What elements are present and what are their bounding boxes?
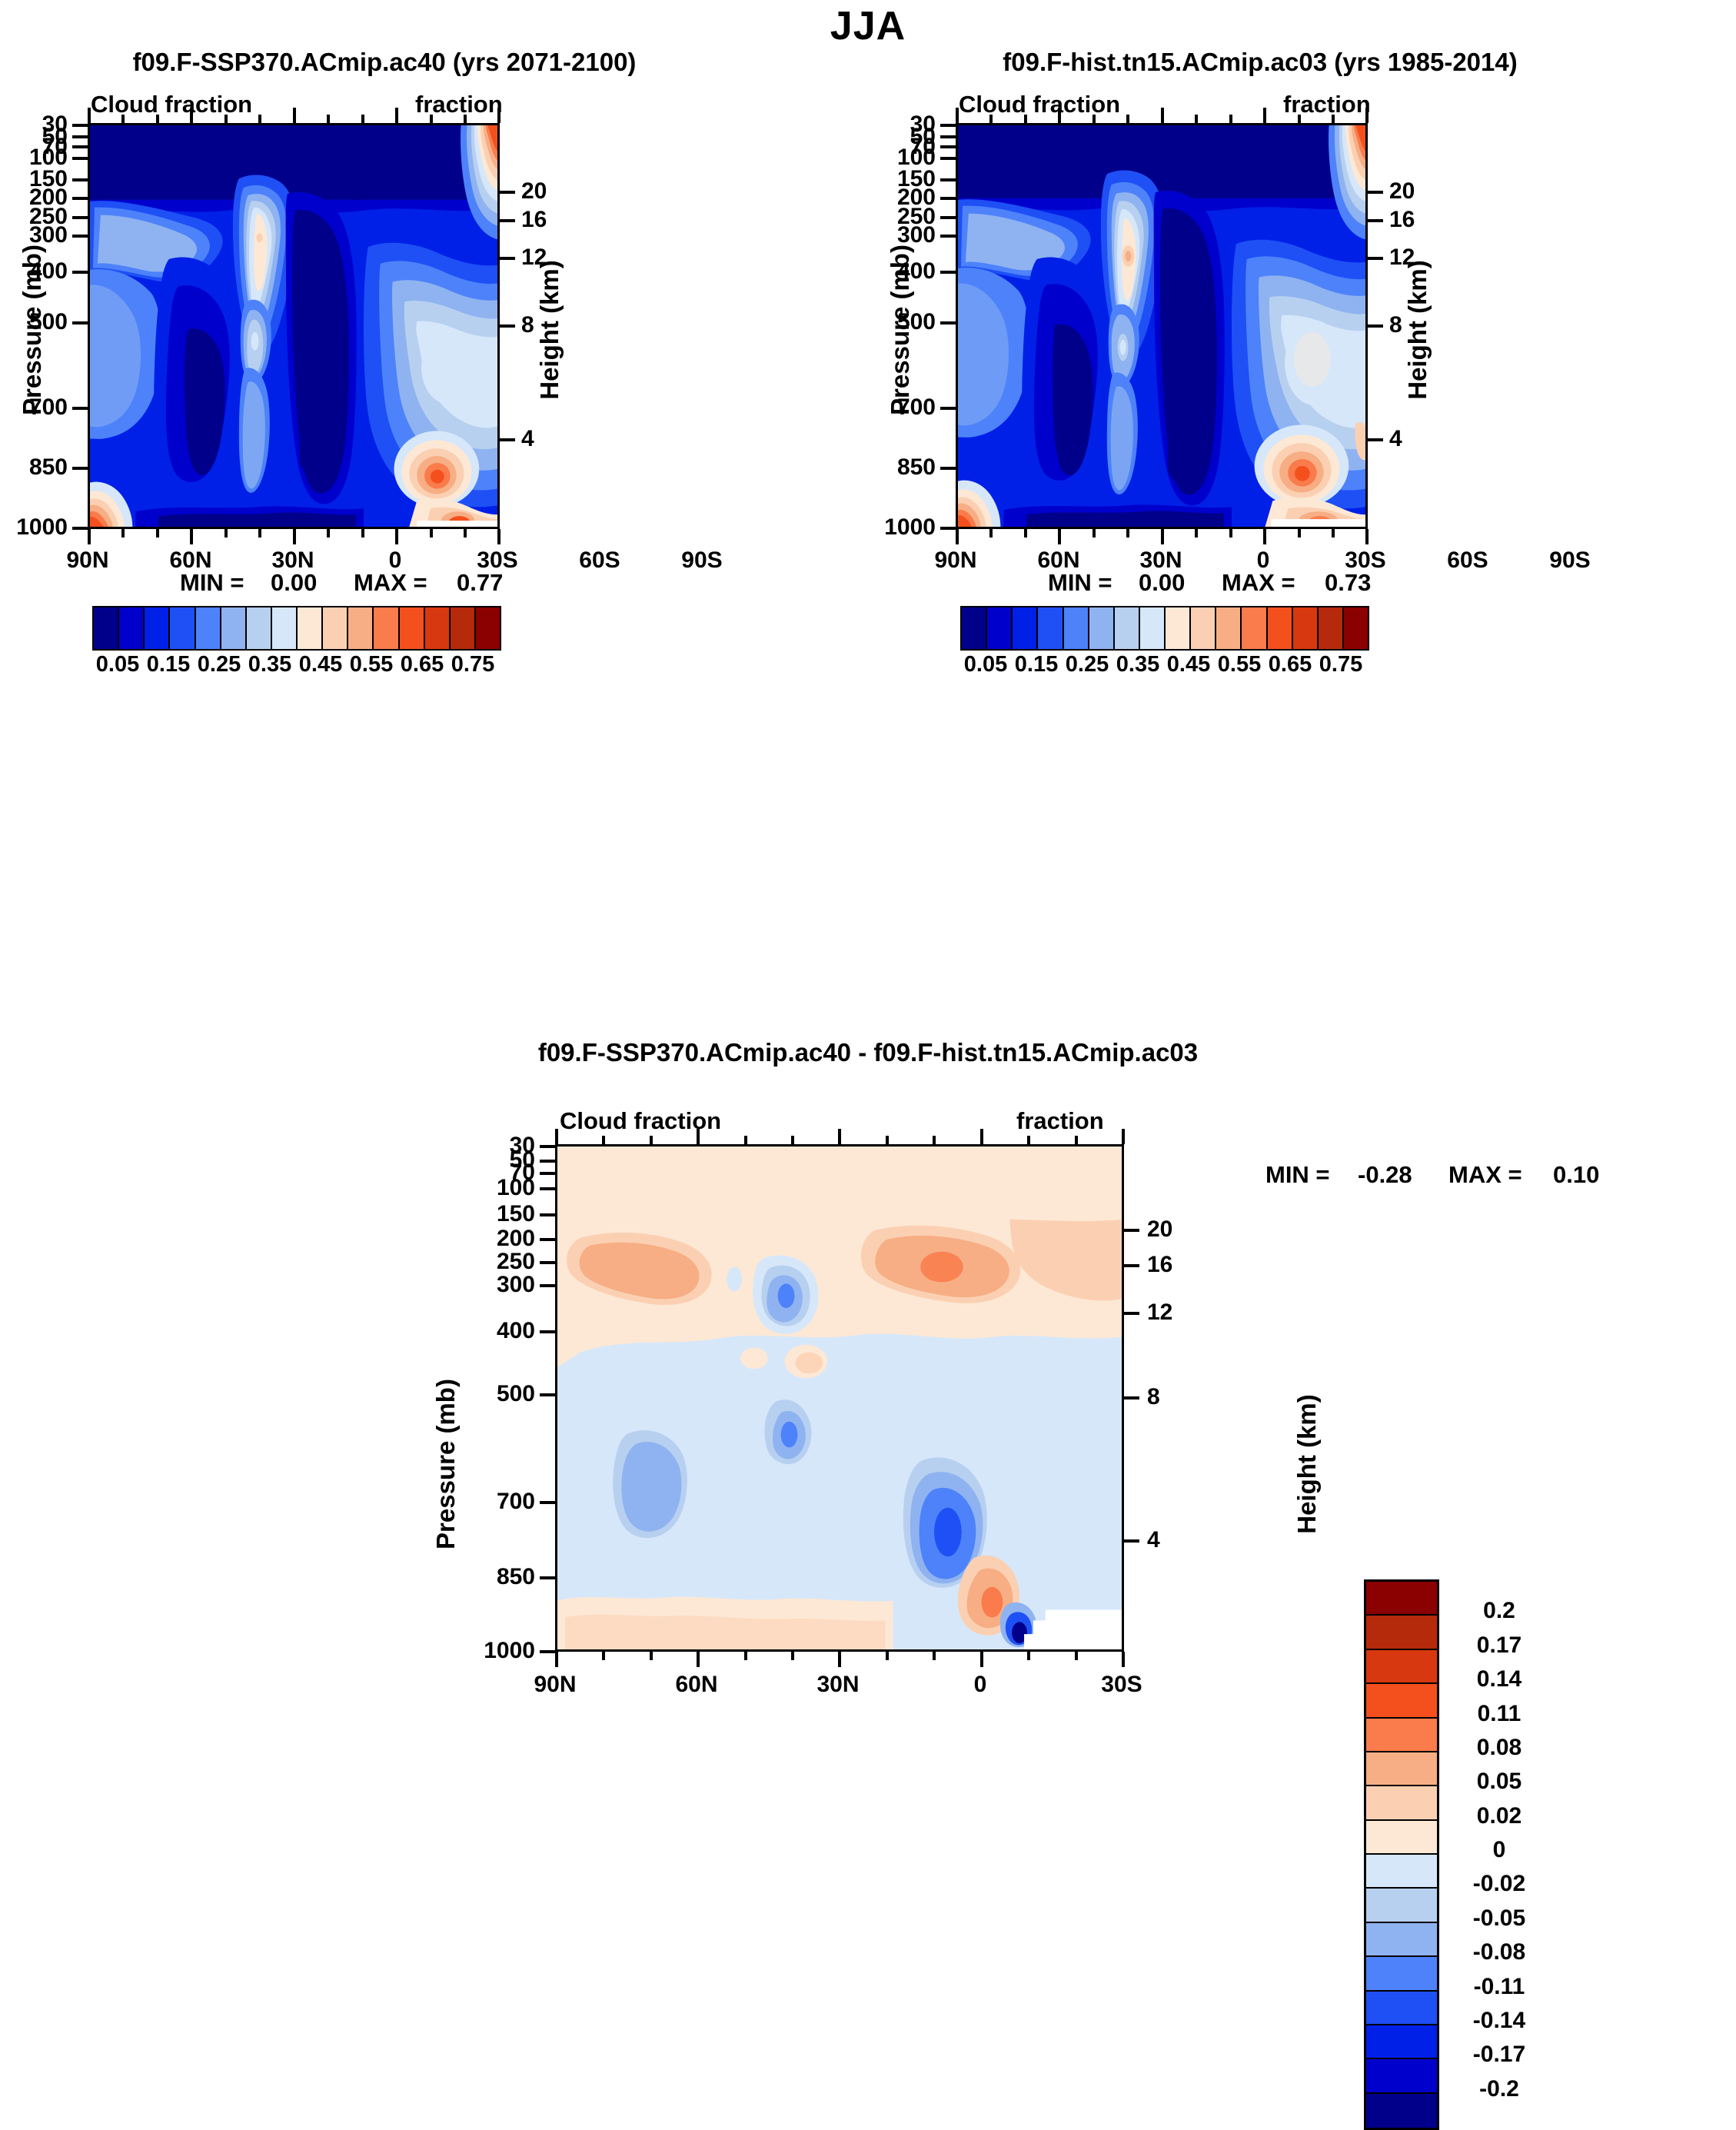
colorbar-tick-label: 0.05 xyxy=(1445,1769,1553,1795)
colorbar-cell xyxy=(1366,1786,1437,1820)
colorbar-tick-label: 0.17 xyxy=(1445,1632,1553,1659)
xtick-90S-left: 90S xyxy=(663,547,740,574)
colorbar-cell xyxy=(272,607,298,649)
ytick-700: 700 xyxy=(466,1489,535,1515)
panel-difference-colorbar-labels: 0.20.170.140.110.080.050.020-0.02-0.05-0… xyxy=(1445,1579,1568,2125)
colorbar-cell xyxy=(1268,607,1293,649)
panel-difference-units-label: fraction xyxy=(1016,1107,1104,1135)
panel-top-right-min-label: MIN = xyxy=(1048,569,1112,597)
panel-difference-title: f09.F-SSP370.ACmip.ac40 - f09.F-hist.tn1… xyxy=(0,1038,1736,1067)
xtick-90S: 90S xyxy=(1531,547,1608,574)
panel-difference-max-value: 0.10 xyxy=(1553,1161,1599,1189)
colorbar-cell xyxy=(119,607,145,649)
colorbar-cell xyxy=(1319,607,1344,649)
colorbar-tick-label: 0.14 xyxy=(1445,1666,1553,1692)
colorbar-cell xyxy=(1366,2025,1437,2059)
colorbar-cell xyxy=(1366,1923,1437,1957)
colorbar-tick-label: -0.14 xyxy=(1445,2008,1553,2034)
panel-difference: f09.F-SSP370.ACmip.ac40 - f09.F-hist.tn1… xyxy=(0,1023,1736,1821)
panel-top-right-min-value: 0.00 xyxy=(1139,569,1185,597)
colorbar-tick-label: -0.05 xyxy=(1445,1905,1553,1932)
y2tick-20: 20 xyxy=(1389,178,1415,205)
xtick-60N: 60N xyxy=(658,1672,735,1698)
panel-top-left-units-label: fraction xyxy=(415,91,503,118)
y2tick-8: 8 xyxy=(1389,312,1402,338)
colorbar-cell xyxy=(348,607,374,649)
xtick-30S: 30S xyxy=(1083,1672,1160,1698)
colorbar-cell xyxy=(1038,607,1063,649)
ytick-500: 500 xyxy=(0,309,68,335)
xtick-90N: 90N xyxy=(917,547,994,574)
y2tick-20: 20 xyxy=(1147,1216,1172,1243)
y2tick-16: 16 xyxy=(1389,207,1415,233)
colorbar-tick-label: 0.02 xyxy=(1445,1803,1553,1829)
colorbar-tick-label: 0.75 xyxy=(1306,652,1375,677)
colorbar-tick-label: 0.08 xyxy=(1445,1735,1553,1761)
ytick-700: 700 xyxy=(868,394,936,421)
y2tick-8: 8 xyxy=(1147,1384,1160,1410)
y2tick-20: 20 xyxy=(521,178,547,205)
panel-top-right-units-label: fraction xyxy=(1283,91,1371,118)
colorbar-cell xyxy=(94,607,119,649)
colorbar-cell xyxy=(170,607,195,649)
y2tick-8: 8 xyxy=(521,312,534,338)
colorbar-cell xyxy=(247,607,272,649)
ytick-300: 300 xyxy=(868,222,936,248)
y2tick-16: 16 xyxy=(1147,1252,1172,1278)
panel-top-left-max-value: 0.77 xyxy=(457,569,503,597)
ytick-1000: 1000 xyxy=(0,514,68,541)
y2tick-4: 4 xyxy=(1389,426,1402,452)
panel-difference-min-value: -0.28 xyxy=(1358,1161,1412,1189)
panel-top-left-colorbar-labels: 0.050.150.250.350.450.550.650.75 xyxy=(92,652,498,683)
colorbar-cell xyxy=(1366,1582,1437,1616)
colorbar-tick-label: -0.2 xyxy=(1445,2076,1553,2102)
ytick-250: 250 xyxy=(466,1249,535,1275)
colorbar-cell xyxy=(1366,1992,1437,2025)
panel-top-right-colorbar xyxy=(960,606,1369,651)
y2tick-12: 12 xyxy=(1389,245,1415,271)
colorbar-cell xyxy=(1366,1752,1437,1786)
ytick-400: 400 xyxy=(0,258,68,285)
ytick-850: 850 xyxy=(466,1564,535,1590)
colorbar-cell xyxy=(1089,607,1115,649)
panel-top-left-min-value: 0.00 xyxy=(271,569,317,597)
colorbar-cell xyxy=(1242,607,1267,649)
colorbar-cell xyxy=(1191,607,1216,649)
y2tick-4: 4 xyxy=(521,426,534,452)
ytick-300: 300 xyxy=(466,1272,535,1298)
ytick-1000: 1000 xyxy=(466,1638,535,1664)
colorbar-cell xyxy=(196,607,221,649)
colorbar-cell xyxy=(987,607,1013,649)
y2tick-12: 12 xyxy=(1147,1300,1172,1326)
colorbar-cell xyxy=(962,607,987,649)
panel-top-right-variable-label: Cloud fraction xyxy=(959,91,1120,118)
panel-top-right-max-value: 0.73 xyxy=(1325,569,1371,597)
colorbar-cell xyxy=(1366,1821,1437,1855)
colorbar-cell xyxy=(1366,2059,1437,2093)
colorbar-tick-label: 0.11 xyxy=(1445,1701,1553,1727)
panel-top-right: f09.F-hist.tn15.ACmip.ac03 (yrs 1985-201… xyxy=(868,0,1736,1015)
colorbar-cell xyxy=(1344,607,1368,649)
colorbar-tick-label: 0 xyxy=(1445,1837,1553,1863)
panel-top-left-variable-label: Cloud fraction xyxy=(91,91,252,118)
colorbar-cell xyxy=(1013,607,1038,649)
panel-top-right-plot xyxy=(956,123,1368,529)
ytick-400: 400 xyxy=(466,1318,535,1344)
colorbar-tick-label: 0.75 xyxy=(438,652,507,677)
colorbar-cell xyxy=(1366,1650,1437,1684)
colorbar-cell xyxy=(323,607,348,649)
panel-difference-y2-axis-title: Height (km) xyxy=(1292,1368,1322,1560)
colorbar-cell xyxy=(1140,607,1166,649)
ytick-1000: 1000 xyxy=(868,514,936,541)
colorbar-tick-label: -0.08 xyxy=(1445,1939,1553,1965)
panel-difference-y-axis-title: Pressure (mb) xyxy=(431,1364,461,1564)
colorbar-cell xyxy=(1293,607,1319,649)
colorbar-cell xyxy=(1366,1616,1437,1649)
ytick-150: 150 xyxy=(466,1201,535,1227)
colorbar-tick-label: -0.11 xyxy=(1445,1974,1553,2000)
ytick-400: 400 xyxy=(868,258,936,285)
panel-difference-colorbar xyxy=(1364,1579,1439,2130)
panel-difference-plot xyxy=(555,1144,1124,1652)
xtick-90N: 90N xyxy=(517,1672,594,1698)
colorbar-tick-label: 0.2 xyxy=(1445,1598,1553,1624)
panel-top-right-title: f09.F-hist.tn15.ACmip.ac03 (yrs 1985-201… xyxy=(868,48,1652,77)
ytick-200: 200 xyxy=(466,1226,535,1252)
colorbar-cell xyxy=(1366,2094,1437,2128)
ytick-300: 300 xyxy=(0,222,68,248)
colorbar-cell xyxy=(1166,607,1191,649)
colorbar-cell xyxy=(451,607,476,649)
y2tick-12: 12 xyxy=(521,245,547,271)
colorbar-cell xyxy=(145,607,170,649)
colorbar-tick-label: -0.17 xyxy=(1445,2042,1553,2068)
colorbar-cell xyxy=(400,607,425,649)
panel-top-right-max-label: MAX = xyxy=(1222,569,1295,597)
ytick-500: 500 xyxy=(868,309,936,335)
xtick-90N: 90N xyxy=(49,547,126,574)
panel-top-left-max-label: MAX = xyxy=(354,569,427,597)
ytick-100: 100 xyxy=(466,1175,535,1201)
colorbar-cell xyxy=(298,607,323,649)
colorbar-cell xyxy=(476,607,500,649)
colorbar-cell xyxy=(1366,1684,1437,1718)
colorbar-cell xyxy=(1366,1855,1437,1889)
y2tick-4: 4 xyxy=(1147,1527,1160,1553)
panel-top-left: f09.F-SSP370.ACmip.ac40 (yrs 2071-2100) … xyxy=(0,0,868,1015)
colorbar-cell xyxy=(1064,607,1089,649)
ytick-850: 850 xyxy=(868,454,936,481)
colorbar-cell xyxy=(1115,607,1140,649)
xtick-60S: 60S xyxy=(1429,547,1506,574)
colorbar-cell xyxy=(1366,1719,1437,1752)
colorbar-cell xyxy=(1366,1889,1437,1922)
panel-top-left-title: f09.F-SSP370.ACmip.ac40 (yrs 2071-2100) xyxy=(0,48,769,77)
colorbar-tick-label: -0.02 xyxy=(1445,1871,1553,1897)
xtick-0: 0 xyxy=(942,1672,1019,1698)
colorbar-cell xyxy=(374,607,399,649)
panel-difference-max-label: MAX = xyxy=(1448,1161,1522,1189)
panel-top-left-plot xyxy=(88,123,500,529)
panel-top-left-colorbar xyxy=(92,606,501,651)
panel-top-right-colorbar-labels: 0.050.150.250.350.450.550.650.75 xyxy=(960,652,1366,683)
ytick-850: 850 xyxy=(0,454,68,481)
xtick-30N: 30N xyxy=(800,1672,876,1698)
colorbar-cell xyxy=(1366,1957,1437,1991)
panel-top-left-min-label: MIN = xyxy=(180,569,244,597)
panel-difference-min-label: MIN = xyxy=(1265,1161,1330,1189)
ytick-700: 700 xyxy=(0,394,68,421)
ytick-500: 500 xyxy=(466,1381,535,1407)
colorbar-cell xyxy=(221,607,247,649)
xtick-60S-left: 60S xyxy=(561,547,638,574)
colorbar-cell xyxy=(425,607,451,649)
y2tick-16: 16 xyxy=(521,207,547,233)
colorbar-cell xyxy=(1216,607,1242,649)
